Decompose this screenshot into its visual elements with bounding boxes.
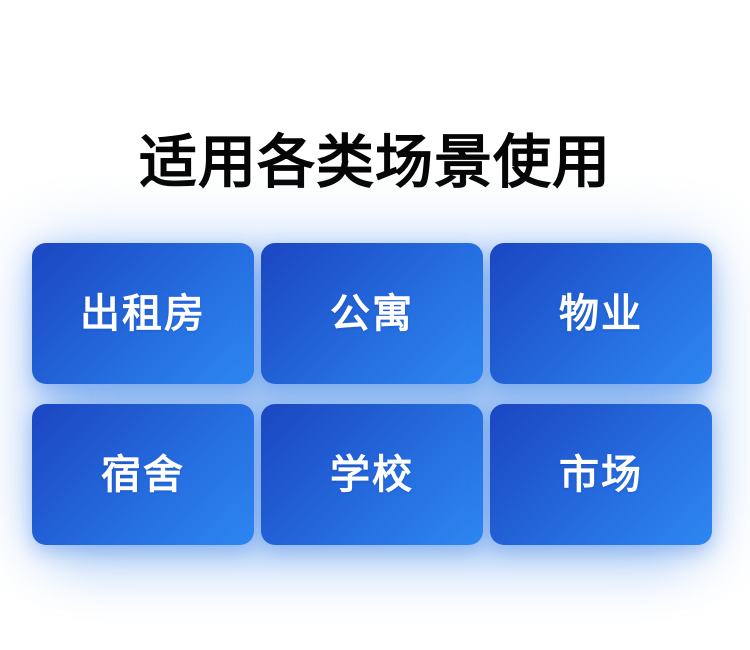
promo-page: 适用各类场景使用 出租房 公寓 物业 宿舍 学校 市场 [0,0,750,650]
scene-card-label: 公寓 [330,290,414,338]
scene-card-dormitory[interactable]: 宿舍 [32,404,254,545]
scene-card-school[interactable]: 学校 [261,404,483,545]
scene-card-label: 物业 [559,290,643,338]
scene-card-label: 市场 [559,451,643,499]
page-title: 适用各类场景使用 [139,127,611,199]
scene-card-grid: 出租房 公寓 物业 宿舍 学校 市场 [32,243,712,545]
scene-card-property-management[interactable]: 物业 [490,243,712,384]
scene-card-label: 学校 [330,451,414,499]
scene-card-market[interactable]: 市场 [490,404,712,545]
scene-card-label: 宿舍 [101,451,185,499]
page-title-container: 适用各类场景使用 [0,88,750,238]
scene-card-label: 出租房 [80,290,206,338]
scene-card-rental-house[interactable]: 出租房 [32,243,254,384]
scene-card-apartment[interactable]: 公寓 [261,243,483,384]
